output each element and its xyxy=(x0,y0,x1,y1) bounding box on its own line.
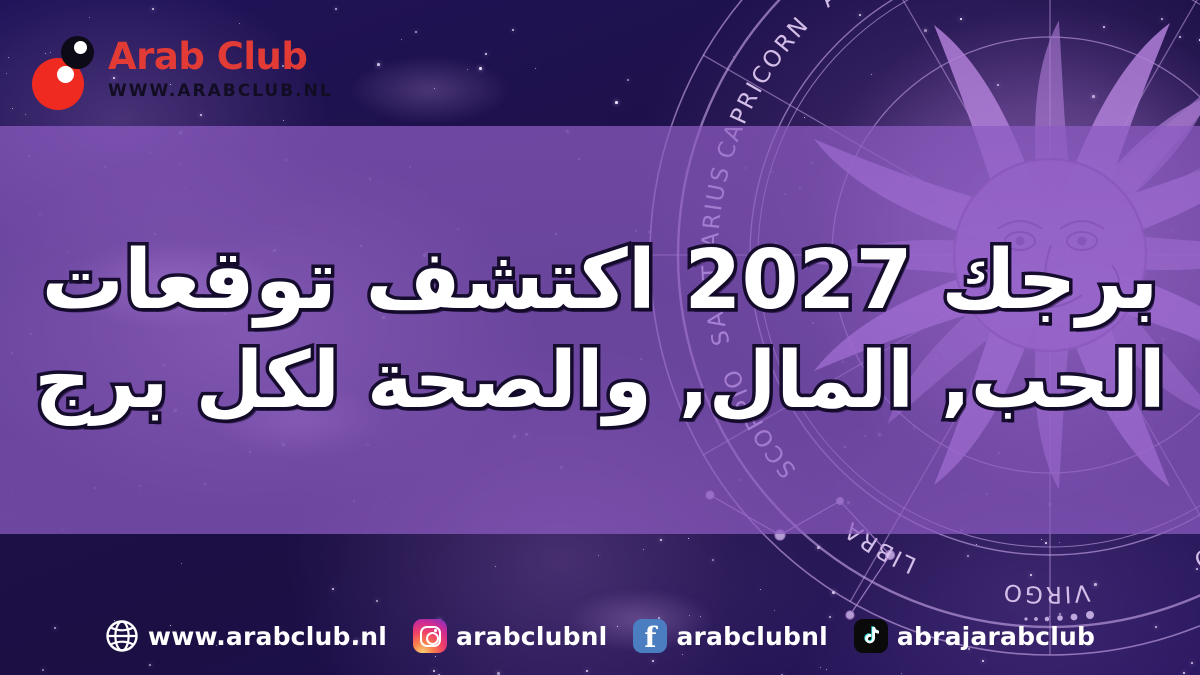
social-item-tiktok[interactable]: abrajarabclub xyxy=(854,619,1095,653)
logo-text-group: Arab Club WWW.ARABCLUB.NL xyxy=(108,38,333,101)
brand-name: Arab Club xyxy=(108,38,333,75)
social-bar: www.arabclub.nl arabclubnl f arabclubnl … xyxy=(0,619,1200,653)
globe-icon xyxy=(105,619,139,653)
brand-website: WWW.ARABCLUB.NL xyxy=(108,81,333,101)
social-item-website[interactable]: www.arabclub.nl xyxy=(105,619,387,653)
facebook-icon: f xyxy=(633,619,667,653)
brand-logo[interactable]: Arab Club WWW.ARABCLUB.NL xyxy=(30,20,330,116)
logo-mark-icon xyxy=(30,36,98,108)
social-item-instagram[interactable]: arabclubnl xyxy=(413,619,607,653)
facebook-glyph: f xyxy=(644,624,656,652)
instagram-glyph xyxy=(420,626,441,647)
social-item-facebook[interactable]: f arabclubnl xyxy=(633,619,827,653)
social-label-facebook: arabclubnl xyxy=(676,622,827,651)
headline-line-1: برجك 2027 اكتشف توقعات xyxy=(42,233,1159,330)
headline-block: برجك 2027 اكتشف توقعات الحب, المال, والص… xyxy=(0,126,1200,534)
social-label-instagram: arabclubnl xyxy=(456,622,607,651)
headline-line-2: الحب, المال, والصحة لكل برج xyxy=(34,335,1165,427)
social-label-tiktok: abrajarabclub xyxy=(897,622,1095,651)
instagram-icon xyxy=(413,619,447,653)
horoscope-banner: PISCES ARIES TAURUS GEMINI CANCER LEO VI… xyxy=(0,0,1200,675)
tiktok-icon xyxy=(854,619,888,653)
social-label-website: www.arabclub.nl xyxy=(148,622,387,651)
black-circle-icon xyxy=(61,36,94,69)
